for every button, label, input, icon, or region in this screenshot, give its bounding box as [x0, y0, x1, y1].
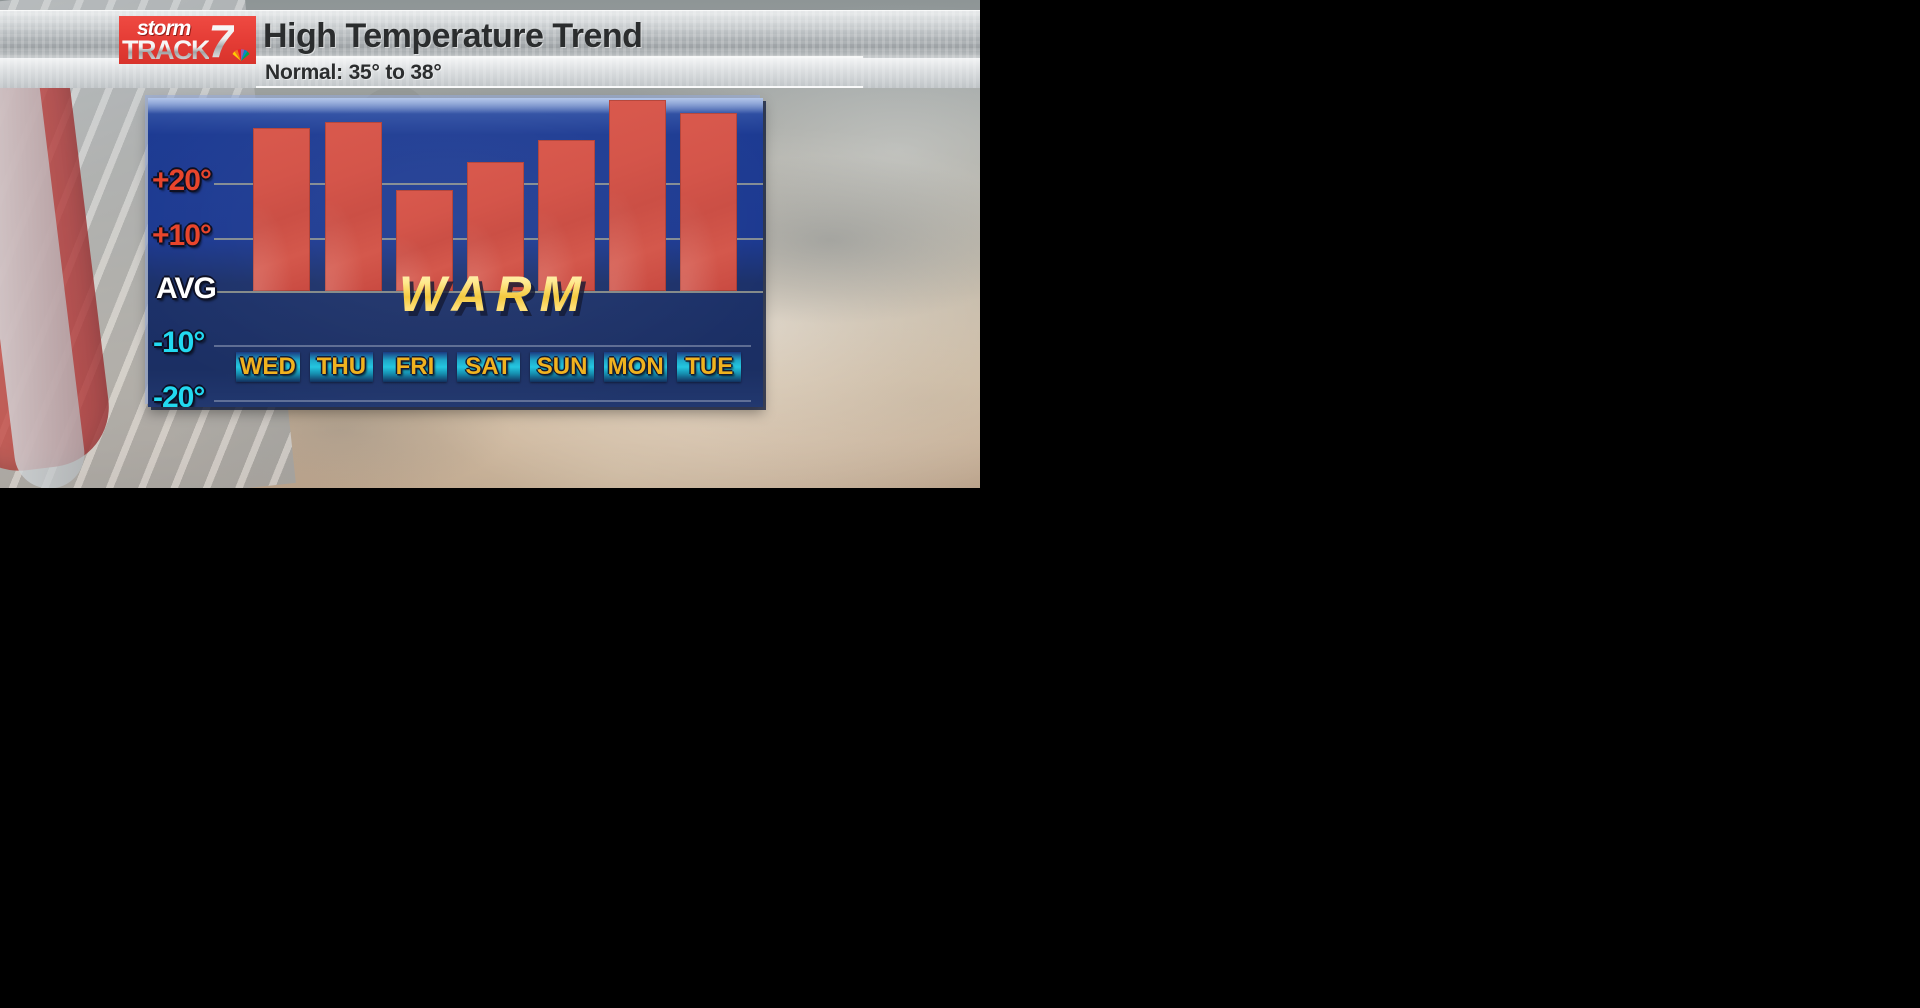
day-cell-thu: THU	[310, 352, 374, 382]
title-divider-bottom	[256, 86, 863, 88]
day-cell-sun: SUN	[530, 352, 594, 382]
day-label-fri: FRI	[396, 353, 435, 381]
title-divider-top	[256, 56, 863, 58]
nbc-peacock-icon	[230, 46, 252, 62]
gridline-minus10	[214, 345, 751, 347]
day-label-thu: THU	[317, 353, 366, 381]
day-label-wed: WED	[240, 353, 296, 381]
day-label-tue: TUE	[685, 353, 733, 381]
bar-tue	[680, 113, 737, 291]
bar-wed	[253, 128, 310, 291]
bar-mon	[609, 100, 666, 291]
warm-overlay-text: WARM	[289, 268, 699, 320]
page-subtitle: Normal: 35° to 38°	[265, 61, 442, 85]
day-cell-mon: MON	[604, 352, 668, 382]
screenshot-stage: 50 60 storm TRACK 7 High Temperature Tre…	[0, 0, 1920, 1008]
axis-label-avg: AVG	[156, 272, 216, 306]
day-cell-tue: TUE	[677, 352, 741, 382]
day-label-mon: MON	[608, 353, 664, 381]
day-cell-wed: WED	[236, 352, 300, 382]
bar-thu	[325, 122, 382, 291]
day-cell-sat: SAT	[457, 352, 521, 382]
axis-label-plus10: +10°	[152, 219, 211, 253]
broadcast-video-frame: 50 60 storm TRACK 7 High Temperature Tre…	[0, 0, 980, 488]
day-label-sat: SAT	[465, 353, 511, 381]
axis-label-plus20: +20°	[152, 164, 211, 198]
day-label-strip: WED THU FRI SAT SUN MON TUE	[236, 352, 741, 382]
day-cell-fri: FRI	[383, 352, 447, 382]
axis-label-minus10: -10°	[153, 326, 204, 360]
logo-track-text: TRACK	[122, 35, 209, 64]
axis-label-minus20: -20°	[153, 381, 204, 407]
day-label-sun: SUN	[537, 353, 588, 381]
gridline-minus20	[214, 400, 751, 402]
stormtrack7-logo: storm TRACK 7	[119, 16, 256, 64]
page-title: High Temperature Trend	[263, 17, 642, 56]
